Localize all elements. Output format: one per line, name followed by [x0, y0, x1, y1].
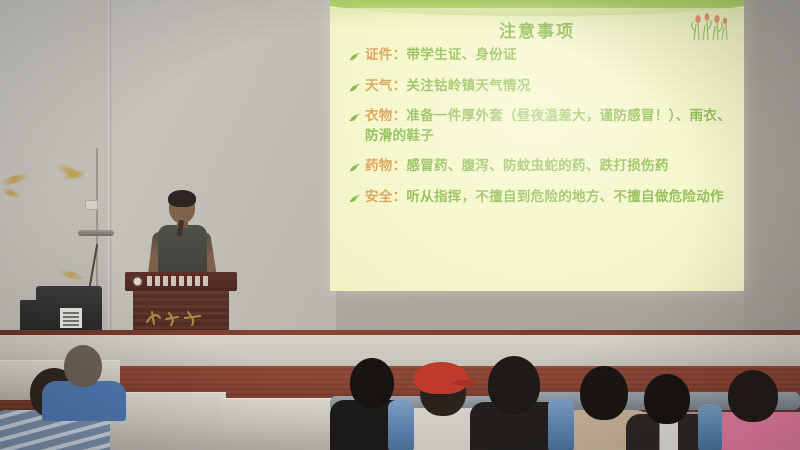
leaf-bullet-icon: [348, 160, 361, 173]
audience-head: [350, 358, 394, 408]
list-item: 证件：带学生证、身份证: [348, 46, 734, 66]
seat: [698, 404, 722, 450]
list-item-body: 带学生证、身份证: [406, 47, 516, 63]
leaf-bullet-icon: [348, 110, 361, 123]
list-item-body: 听从指挥，不擅自到危险的地方、不擅自做危险动作: [406, 189, 723, 205]
audience-member-blue: [42, 345, 126, 415]
podium-calligraphy: [143, 306, 205, 330]
list-item: 安全：听从指挥，不擅自到危险的地方、不擅自做危险动作: [348, 188, 734, 208]
list-item-body: 准备一件厚外套（昼夜温差大，谨防感冒！）、雨衣、防滑的鞋子: [365, 108, 731, 144]
audience-head: [488, 356, 540, 414]
list-item-text: 安全：听从指挥，不擅自到危险的地方、不擅自做危险动作: [365, 188, 724, 208]
audience-head: [644, 374, 690, 424]
list-item: 药物：感冒药、腹泻、防蚊虫蛇的药、跌打损伤药: [348, 157, 734, 177]
list-item-text: 天气：关注钴岭镇天气情况: [365, 77, 531, 97]
wall-switch[interactable]: [85, 200, 98, 210]
university-name-plate: [147, 276, 211, 286]
audience-head: [580, 366, 628, 420]
list-item-label: 药物: [365, 158, 393, 174]
lecture-hall-photo: 注意事项 证件：带学生证、身份证: [0, 0, 800, 450]
university-logo-icon: [132, 276, 143, 287]
list-item-body: 感冒药、腹泻、防蚊虫蛇的药、跌打损伤药: [406, 158, 668, 174]
leaf-bullet-icon: [348, 80, 361, 93]
hanging-cord: [96, 148, 98, 298]
audience-head: [64, 345, 102, 387]
list-item-text: 衣物：准备一件厚外套（昼夜温差大，谨防感冒！）、雨衣、防滑的鞋子: [365, 107, 734, 146]
list-item-label: 证件: [365, 47, 393, 63]
seat: [388, 400, 414, 450]
leaf-bullet-icon: [348, 49, 361, 62]
slide-title: 注意事项: [330, 17, 744, 42]
wall-rail: [78, 230, 114, 236]
list-item: 衣物：准备一件厚外套（昼夜温差大，谨防感冒！）、雨衣、防滑的鞋子: [348, 107, 734, 146]
list-item-text: 药物：感冒药、腹泻、防蚊虫蛇的药、跌打损伤药: [365, 157, 669, 177]
list-item-text: 证件：带学生证、身份证: [365, 46, 517, 66]
audience-member-longhair: [476, 356, 554, 450]
audience-body: [42, 381, 126, 421]
seat: [548, 398, 574, 450]
desk-row: [222, 398, 342, 450]
projected-slide: 注意事项 证件：带学生证、身份证: [330, 0, 744, 291]
notice-card: [60, 308, 82, 328]
wall-right-panel: [744, 0, 800, 330]
cap-brim: [452, 380, 478, 386]
presenter-hair: [168, 190, 196, 207]
list-item-label: 衣物: [365, 108, 393, 124]
slide-bullet-list: 证件：带学生证、身份证 天气：关注钴岭镇天气情况: [348, 46, 734, 218]
red-cap-icon: [414, 362, 468, 394]
list-item: 天气：关注钴岭镇天气情况: [348, 77, 734, 97]
list-item-label: 天气: [365, 78, 393, 94]
wall-seam: [108, 0, 111, 352]
list-item-label: 安全: [365, 189, 393, 205]
list-item-body: 关注钴岭镇天气情况: [406, 78, 530, 94]
audience-head: [728, 370, 778, 422]
audience-member-black-white: [630, 374, 706, 450]
audience-member-pink: [716, 370, 800, 450]
leaf-bullet-icon: [348, 191, 361, 204]
